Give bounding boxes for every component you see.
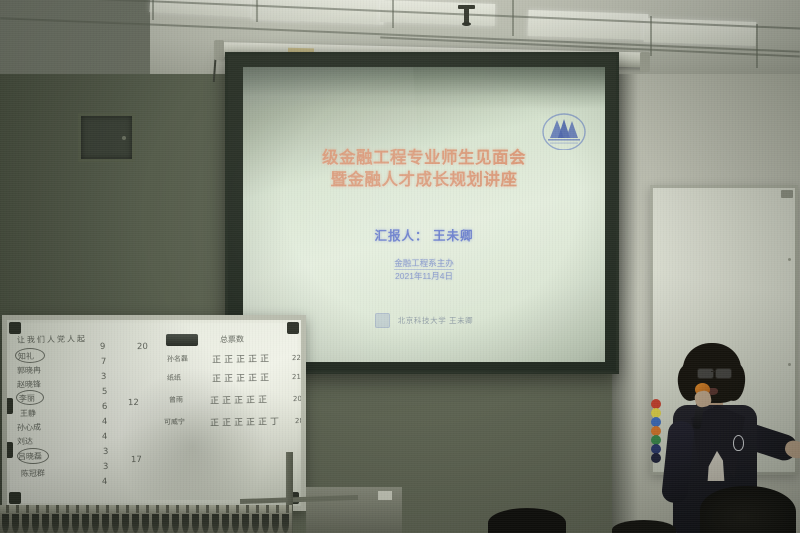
radiator-fin <box>22 514 29 533</box>
radiator-top-notch <box>46 505 49 513</box>
whiteboard-tally-count: 22 <box>292 354 301 362</box>
radiator-fin <box>2 514 9 533</box>
radiator-top-notch <box>76 505 79 513</box>
radiator-fin <box>142 514 149 533</box>
ceiling-light-panel <box>528 10 649 40</box>
lecture-hall-photo: 级金融工程专业师生见面会 暨金融人才成长规划讲座 汇报人： 王未卿 金融工程系主… <box>0 0 800 533</box>
whiteboard-count: 4 <box>102 477 108 487</box>
ceiling-grid-line <box>392 0 394 28</box>
speaker-glasses-right-lens <box>715 368 732 379</box>
radiator-top-notch <box>16 505 19 513</box>
radiator-fin <box>42 514 49 533</box>
whiteboard-tally-marks: 正正正正正 <box>212 351 272 365</box>
radiator-top-notch <box>216 505 219 513</box>
slide-presenter: 汇报人： 王未卿 <box>243 225 605 244</box>
speaker-lapel-pin <box>733 435 744 451</box>
whiteboard-circled-name-marker <box>16 390 44 405</box>
radiator-top-notch <box>126 505 129 513</box>
board-eraser[interactable] <box>166 334 198 346</box>
radiator-top-notch <box>166 505 169 513</box>
podium-desk <box>306 487 402 533</box>
whiteboard-name: 王静 <box>20 408 36 419</box>
wall-radiator <box>0 505 292 533</box>
whiteboard-name: 赵晓锋 <box>17 379 41 391</box>
slide-title: 级金融工程专业师生见面会 暨金融人才成长规划讲座 <box>243 147 605 191</box>
whiteboard-name: 郭晓冉 <box>17 365 41 377</box>
whiteboard-circled-name-marker <box>15 348 45 363</box>
whiteboard-tally-name: 曾雨 <box>169 395 183 405</box>
radiator-top-notch <box>106 505 109 513</box>
whiteboard-count: 3 <box>103 462 109 472</box>
whiteboard-tally-name: 孙名磊 <box>167 354 188 364</box>
radiator-fin <box>52 514 59 533</box>
radiator-top-notch <box>286 505 289 513</box>
radiator-fin <box>232 514 239 533</box>
radiator-fin <box>152 514 159 533</box>
radiator-fin <box>182 514 189 533</box>
whiteboard-tally-count: 21 <box>292 373 301 381</box>
radiator-top-notch <box>236 505 239 513</box>
fire-sprinkler-head <box>464 5 469 23</box>
radiator-fin <box>32 514 39 533</box>
slide-title-line2: 暨金融人才成长规划讲座 <box>243 169 605 191</box>
podium-label-plate <box>378 491 392 500</box>
slide-footer-text: 北京科技大学 王未卿 <box>398 315 474 326</box>
ceiling-grid-line <box>650 16 652 56</box>
ceiling-grid-line <box>512 0 514 36</box>
whiteboard-edge-clip <box>6 442 13 458</box>
ceiling-grid-line <box>256 0 258 22</box>
roller-end-cap <box>214 40 224 60</box>
radiator-top-notch <box>66 505 69 513</box>
whiteboard-heading: 让我们人党人起 <box>17 333 87 345</box>
whiteboard-tally-name: 可威宁 <box>164 417 185 427</box>
whiteboard-tally-marks: 正正正正正 <box>210 392 270 406</box>
bead <box>651 453 661 463</box>
ceiling-grid-line <box>152 0 154 20</box>
radiator-top-notch <box>26 505 29 513</box>
radiator-top-notch <box>6 505 9 513</box>
footer-logo-mark <box>375 313 390 328</box>
whiteboard-count: 4 <box>102 417 108 427</box>
radiator-fin <box>192 514 199 533</box>
whiteboard-edge-clip <box>6 398 13 414</box>
whiteboard-count: 6 <box>102 402 108 412</box>
whiteboard-count: 3 <box>101 372 107 382</box>
radiator-top-notch <box>136 505 139 513</box>
whiteboard-subtotal: 12 <box>128 398 139 408</box>
ustb-university-logo <box>541 110 587 150</box>
ceiling-light-panel <box>251 0 384 25</box>
audience-head-silhouette <box>612 520 676 533</box>
left-whiteboard[interactable]: 让我们人党人起 知礼 郭晓冉 赵晓锋 李丽 王静 孙心成 刘达 吕晓磊 陈冠群 … <box>2 315 306 511</box>
whiteboard-name: 刘达 <box>17 436 33 447</box>
radiator-top-notch <box>116 505 119 513</box>
radiator-fin <box>92 514 99 533</box>
ceiling-dark-corner <box>0 0 150 74</box>
whiteboard-tally-count: 20 <box>293 395 302 403</box>
roller-end-cap <box>640 52 650 72</box>
whiteboard-count: 9 <box>100 342 106 352</box>
radiator-fin <box>222 514 229 533</box>
slide-date-line: 2021年11月4日 <box>243 270 605 282</box>
radiator-fin <box>82 514 89 533</box>
whiteboard-count: 4 <box>102 432 108 442</box>
radiator-top-notch <box>86 505 89 513</box>
whiteboard-tally-count: 28 <box>295 417 304 425</box>
radiator-fin <box>72 514 79 533</box>
whiteboard-clip <box>781 190 793 198</box>
radiator-fin <box>162 514 169 533</box>
decorative-bead-strand <box>651 399 661 461</box>
radiator-top-notch <box>206 505 209 513</box>
radiator-top-notch <box>256 505 259 513</box>
wall-access-panel <box>78 113 135 162</box>
whiteboard-circled-name-marker <box>17 448 49 464</box>
radiator-fin <box>132 514 139 533</box>
whiteboard-corner-bracket <box>287 322 299 334</box>
radiator-top-notch <box>246 505 249 513</box>
radiator-fin <box>62 514 69 533</box>
radiator-fin <box>122 514 129 533</box>
radiator-top-notch <box>36 505 39 513</box>
whiteboard-tally-name: 纸纸 <box>167 373 181 383</box>
speaker-glasses-left-lens <box>697 368 714 379</box>
radiator-top-notch <box>226 505 229 513</box>
radiator-top-notch <box>56 505 59 513</box>
radiator-fin <box>12 514 19 533</box>
whiteboard-corner-bracket <box>9 322 21 334</box>
radiator-top-notch <box>146 505 149 513</box>
whiteboard-count: 3 <box>103 447 109 457</box>
slide-organizer-line: 金融工程系主办 <box>394 257 454 270</box>
radiator-top-notch <box>276 505 279 513</box>
slide-subtitle-block: 金融工程系主办 2021年11月4日 <box>243 257 605 282</box>
radiator-fin <box>172 514 179 533</box>
whiteboard-name: 孙心成 <box>17 422 41 434</box>
radiator-top-notch <box>156 505 159 513</box>
radiator-fin <box>282 514 289 533</box>
whiteboard-tally-marks: 正正正正正丁 <box>210 414 282 429</box>
whiteboard-tally-marks: 正正正正正 <box>212 370 272 384</box>
radiator-fin <box>112 514 119 533</box>
whiteboard-subtotal: 17 <box>131 455 142 465</box>
radiator-top-notch <box>186 505 189 513</box>
whiteboard-shadow <box>119 367 266 501</box>
radiator-fin <box>252 514 259 533</box>
radiator-fin <box>102 514 109 533</box>
radiator-top-notch <box>266 505 269 513</box>
whiteboard-screw <box>788 258 791 261</box>
radiator-fin <box>242 514 249 533</box>
ceiling-grid-line <box>756 24 758 68</box>
radiator-fin <box>202 514 209 533</box>
radiator-top-notch <box>176 505 179 513</box>
radiator-fin <box>272 514 279 533</box>
whiteboard-tally-heading: 总票数 <box>220 334 244 346</box>
radiator-top-notch <box>196 505 199 513</box>
audience-head-silhouette <box>488 508 566 533</box>
whiteboard-corner-bracket <box>9 492 21 504</box>
radiator-fin <box>262 514 269 533</box>
whiteboard-subtotal: 20 <box>137 342 148 352</box>
radiator-fin <box>212 514 219 533</box>
whiteboard-count: 7 <box>101 357 107 367</box>
whiteboard-name: 陈冠群 <box>21 468 45 480</box>
slide-title-line1: 级金融工程专业师生见面会 <box>243 147 605 169</box>
speaker-glasses-bridge <box>711 371 716 372</box>
radiator-top-notch <box>96 505 99 513</box>
whiteboard-count: 5 <box>102 387 108 397</box>
audience-head-silhouette <box>700 486 796 533</box>
